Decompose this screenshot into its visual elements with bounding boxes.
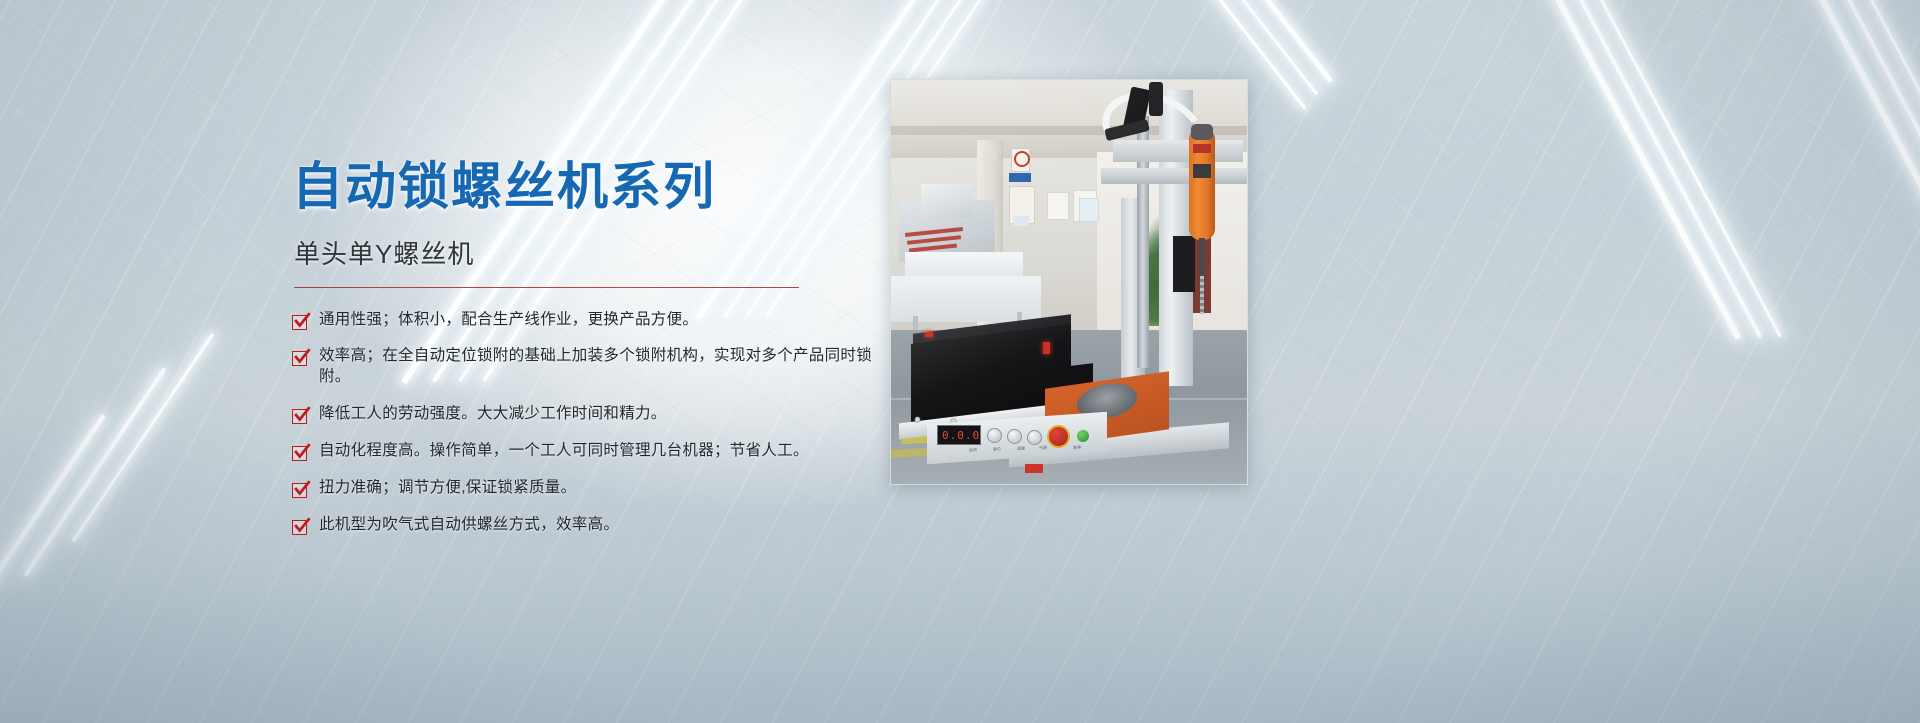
page-subtitle: 单头单Y螺丝机 bbox=[294, 234, 892, 271]
product-photo: 启动 复位 调速 气源 急停 0.0.0 bbox=[890, 79, 1248, 485]
feature-text: 此机型为吹气式自动供螺丝方式，效率高。 bbox=[319, 515, 619, 536]
feature-text: 扭力准确；调节方便,保证锁紧质量。 bbox=[319, 478, 576, 499]
feature-text: 效率高；在全自动定位锁附的基础上加装多个锁附机构，实现对多个产品同时锁附。 bbox=[319, 346, 892, 388]
product-banner: 自动锁螺丝机系列 单头单Y螺丝机 通用性强；体积小，配合生产线作业，更换产品方便… bbox=[0, 0, 1920, 723]
list-item: 此机型为吹气式自动供螺丝方式，效率高。 bbox=[292, 515, 892, 536]
check-mark-icon bbox=[292, 520, 307, 535]
list-item: 效率高；在全自动定位锁附的基础上加装多个锁附机构，实现对多个产品同时锁附。 bbox=[292, 346, 892, 388]
check-mark-icon bbox=[292, 315, 307, 330]
check-mark-icon bbox=[292, 483, 307, 498]
feature-text: 降低工人的劳动强度。大大减少工作时间和精力。 bbox=[319, 404, 667, 425]
list-item: 通用性强；体积小，配合生产线作业，更换产品方便。 bbox=[292, 310, 892, 331]
photo-highlight bbox=[891, 80, 1247, 484]
list-item: 自动化程度高。操作简单，一个工人可同时管理几台机器；节省人工。 bbox=[292, 441, 892, 462]
feature-text: 自动化程度高。操作简单，一个工人可同时管理几台机器；节省人工。 bbox=[319, 441, 809, 462]
feature-text: 通用性强；体积小，配合生产线作业，更换产品方便。 bbox=[319, 310, 698, 331]
list-item: 扭力准确；调节方便,保证锁紧质量。 bbox=[292, 478, 892, 499]
check-mark-icon bbox=[292, 446, 307, 461]
check-mark-icon bbox=[292, 409, 307, 424]
banner-content: 自动锁螺丝机系列 单头单Y螺丝机 通用性强；体积小，配合生产线作业，更换产品方便… bbox=[292, 160, 892, 552]
feature-list: 通用性强；体积小，配合生产线作业，更换产品方便。 效率高；在全自动定位锁附的基础… bbox=[292, 310, 892, 536]
divider bbox=[294, 287, 799, 288]
page-title: 自动锁螺丝机系列 bbox=[292, 160, 892, 214]
check-mark-icon bbox=[292, 351, 307, 366]
list-item: 降低工人的劳动强度。大大减少工作时间和精力。 bbox=[292, 404, 892, 425]
